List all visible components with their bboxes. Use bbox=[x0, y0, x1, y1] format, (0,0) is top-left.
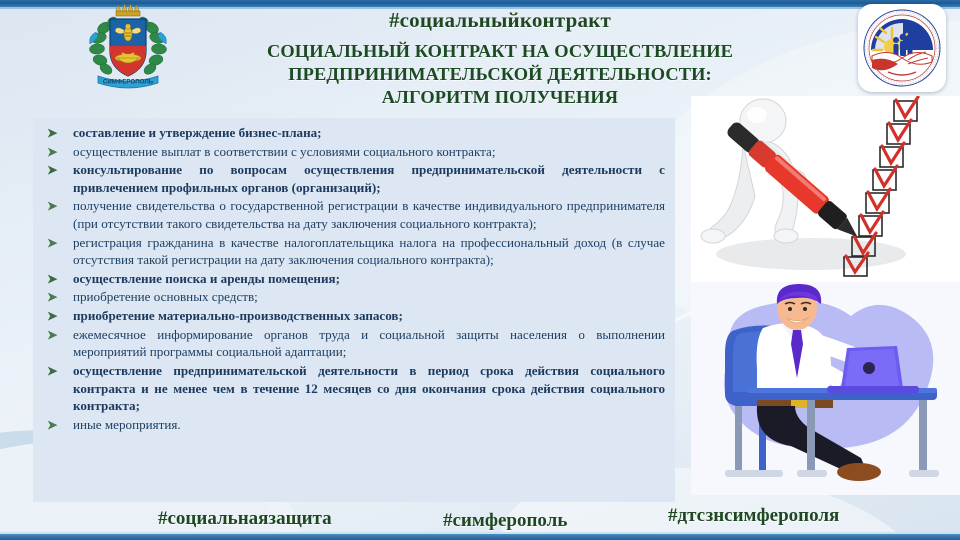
list-item-label: ежемесячное информирование органов труда… bbox=[73, 327, 665, 360]
man-at-laptop-illustration bbox=[691, 282, 960, 495]
page-title-line-1: СОЦИАЛЬНЫЙ КОНТРАКТ НА ОСУЩЕСТВЛЕНИЕ bbox=[198, 40, 802, 63]
arrow-bullet-icon: ➤ bbox=[47, 162, 57, 179]
list-item: ➤приобретение материально-производственн… bbox=[41, 307, 665, 325]
arrow-bullet-icon: ➤ bbox=[47, 308, 57, 325]
bottom-accent-bar-highlight bbox=[0, 532, 960, 534]
list-item: ➤иные мероприятия. bbox=[41, 416, 665, 434]
arrow-bullet-icon: ➤ bbox=[47, 327, 57, 344]
list-item: ➤осуществление предпринимательской деяте… bbox=[41, 362, 665, 415]
list-item-label: осуществление поиска и аренды помещения; bbox=[73, 271, 340, 286]
list-item-label: осуществление предпринимательской деятел… bbox=[73, 363, 665, 413]
page-title-line-2: ПРЕДПРИНИМАТЕЛЬСКОЙ ДЕЯТЕЛЬНОСТИ: bbox=[198, 63, 802, 86]
checklist-with-pen-illustration bbox=[691, 96, 960, 282]
arrow-bullet-icon: ➤ bbox=[47, 271, 57, 288]
algorithm-steps-list: ➤составление и утверждение бизнес-плана;… bbox=[41, 124, 665, 433]
list-item-label: приобретение материально-производственны… bbox=[73, 308, 403, 323]
list-item: ➤ежемесячное информирование органов труд… bbox=[41, 326, 665, 361]
footer-hashtag-3: #дтсзнсимферополя bbox=[668, 505, 839, 527]
bottom-accent-bar bbox=[0, 534, 960, 540]
arrow-bullet-icon: ➤ bbox=[47, 417, 57, 434]
list-item-label: получение свидетельства о государственно… bbox=[73, 198, 665, 231]
list-item-label: иные мероприятия. bbox=[73, 417, 181, 432]
list-item: ➤осуществление поиска и аренды помещения… bbox=[41, 270, 665, 288]
arrow-bullet-icon: ➤ bbox=[47, 125, 57, 142]
arrow-bullet-icon: ➤ bbox=[47, 198, 57, 215]
simferopol-coat-of-arms-icon: СИМФЕРОПОЛЬ bbox=[84, 2, 172, 94]
department-social-protection-logo-icon bbox=[858, 4, 946, 92]
list-item-label: консультирование по вопросам осуществлен… bbox=[73, 162, 665, 195]
arrow-bullet-icon: ➤ bbox=[47, 289, 57, 306]
list-item: ➤составление и утверждение бизнес-плана; bbox=[41, 124, 665, 142]
top-hashtag: #социальныйконтракт bbox=[220, 8, 780, 33]
list-item-label: регистрация гражданина в качестве налого… bbox=[73, 235, 665, 268]
list-item: ➤получение свидетельства о государственн… bbox=[41, 197, 665, 232]
footer-hashtag-1: #социальнаязащита bbox=[158, 508, 332, 530]
list-item-label: составление и утверждение бизнес-плана; bbox=[73, 125, 322, 140]
coat-of-arms-ribbon-text: СИМФЕРОПОЛЬ bbox=[103, 79, 154, 86]
list-item: ➤приобретение основных средств; bbox=[41, 288, 665, 306]
list-item-label: приобретение основных средств; bbox=[73, 289, 258, 304]
slide-canvas: СИМФЕРОПОЛЬ bbox=[0, 0, 960, 540]
list-item: ➤консультирование по вопросам осуществле… bbox=[41, 161, 665, 196]
arrow-bullet-icon: ➤ bbox=[47, 144, 57, 161]
arrow-bullet-icon: ➤ bbox=[47, 235, 57, 252]
list-item: ➤осуществление выплат в соответствии с у… bbox=[41, 143, 665, 161]
arrow-bullet-icon: ➤ bbox=[47, 363, 57, 380]
algorithm-steps-panel: ➤составление и утверждение бизнес-плана;… bbox=[33, 118, 675, 502]
list-item: ➤регистрация гражданина в качестве налог… bbox=[41, 234, 665, 269]
footer-hashtag-2: #симферополь bbox=[443, 510, 567, 532]
list-item-label: осуществление выплат в соответствии с ус… bbox=[73, 144, 496, 159]
